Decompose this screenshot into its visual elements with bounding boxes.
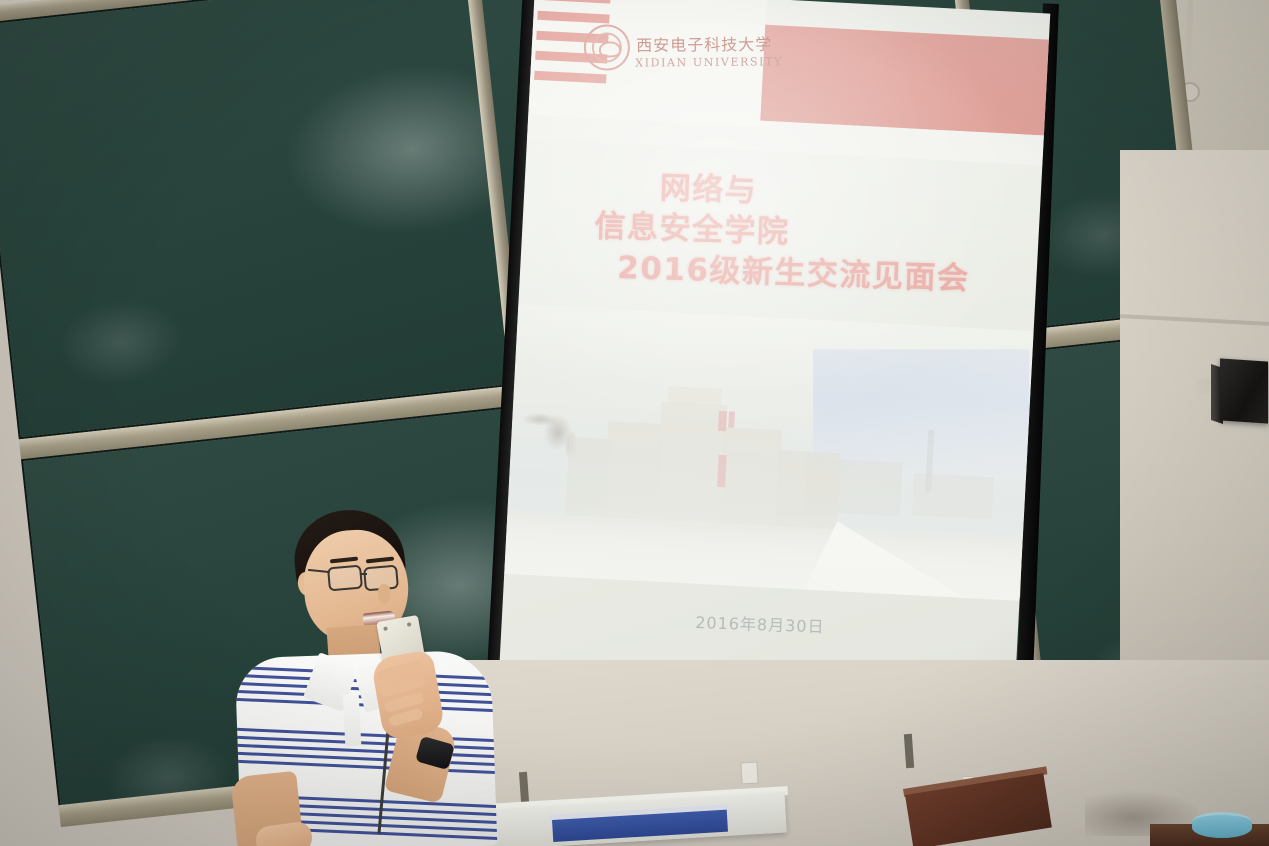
glasses-bridge [361, 573, 367, 575]
campus-photo [504, 304, 1033, 601]
university-name-en: XIDIAN UNIVERSITY [635, 55, 785, 69]
photo-fade-overlay [504, 304, 1033, 601]
presentation-slide: 西安电子科技大学 XIDIAN UNIVERSITY 网络与 信息安全学院 20… [498, 0, 1050, 717]
blue-basin [1192, 812, 1252, 838]
slide-title: 网络与 信息安全学院 2016级新生交流见面会 [573, 166, 1017, 301]
xidian-seal-icon [583, 24, 630, 71]
classroom-photo: 西安电子科技大学 XIDIAN UNIVERSITY 网络与 信息安全学院 20… [0, 0, 1269, 846]
presenter-placket [343, 694, 362, 747]
presenter-nose [378, 584, 391, 604]
wall-speaker-icon [1220, 358, 1268, 423]
university-name-cn: 西安电子科技大学 [636, 31, 766, 56]
wall-outlet-icon[interactable] [740, 762, 758, 785]
slide-logo-block: 西安电子科技大学 XIDIAN UNIVERSITY [528, 0, 766, 127]
presenter [232, 508, 522, 846]
slide-date: 2016年8月30日 [502, 602, 1019, 644]
blackboard-panel [0, 0, 516, 439]
glasses-icon [327, 565, 363, 592]
